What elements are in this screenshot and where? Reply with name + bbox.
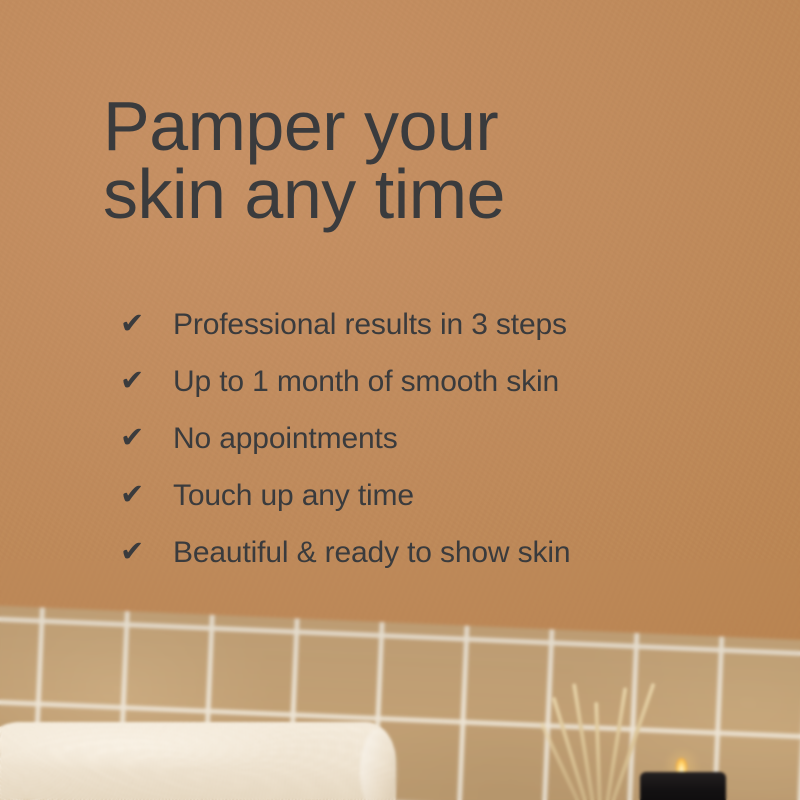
promo-poster: Pamper your skin any time ✔ Professional… — [0, 0, 800, 800]
rolled-towel — [0, 722, 396, 800]
reed-stick — [594, 702, 602, 800]
list-item: ✔ No appointments — [103, 410, 743, 467]
black-candle — [640, 772, 726, 800]
towel-texture — [0, 722, 396, 800]
check-icon: ✔ — [103, 481, 151, 510]
check-icon: ✔ — [103, 310, 151, 339]
reed-stick — [572, 683, 596, 800]
check-icon: ✔ — [103, 367, 151, 396]
list-item: ✔ Up to 1 month of smooth skin — [103, 353, 743, 410]
benefit-label: Professional results in 3 steps — [151, 308, 567, 342]
check-icon: ✔ — [103, 538, 151, 567]
check-icon: ✔ — [103, 424, 151, 453]
list-item: ✔ Professional results in 3 steps — [103, 296, 743, 353]
page-title: Pamper your skin any time — [103, 92, 723, 228]
benefit-label: Beautiful & ready to show skin — [151, 536, 570, 570]
benefits-list: ✔ Professional results in 3 steps ✔ Up t… — [103, 296, 743, 581]
benefit-label: Touch up any time — [151, 479, 414, 513]
reed-stick — [604, 687, 627, 800]
spa-photo-scene — [0, 560, 800, 800]
list-item: ✔ Beautiful & ready to show skin — [103, 524, 743, 581]
benefit-label: Up to 1 month of smooth skin — [151, 365, 559, 399]
list-item: ✔ Touch up any time — [103, 467, 743, 524]
benefit-label: No appointments — [151, 422, 398, 456]
